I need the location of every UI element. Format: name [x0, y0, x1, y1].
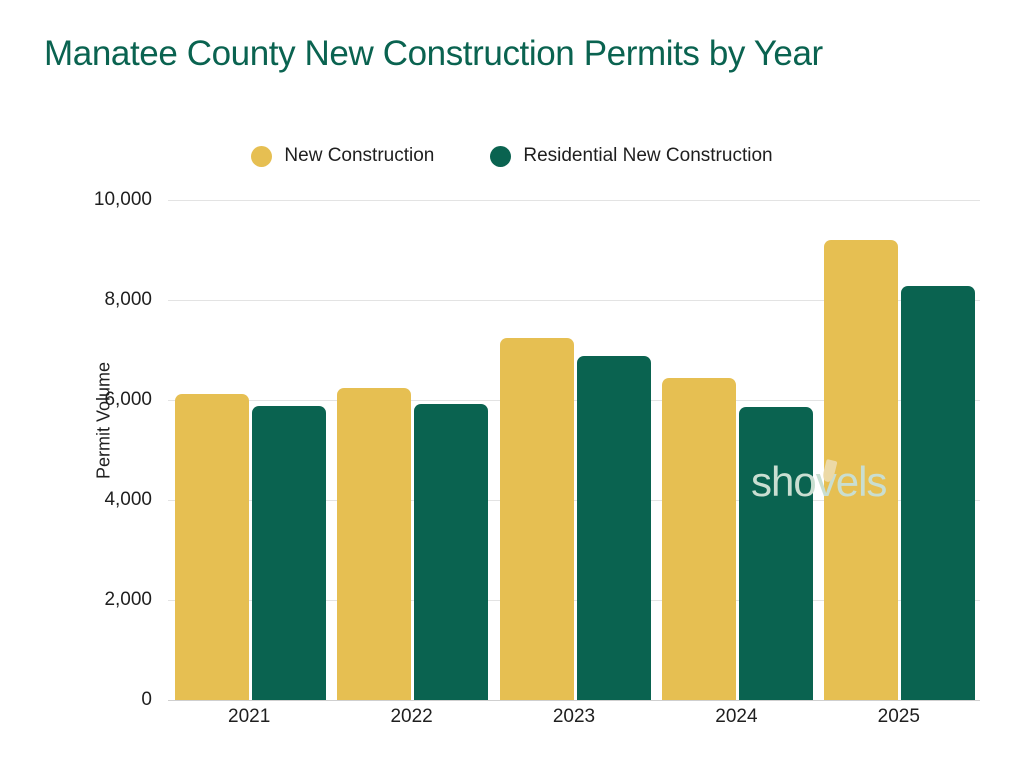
- y-tick-label: 4,000: [104, 489, 152, 511]
- bar-2025-series-2[interactable]: [901, 286, 975, 701]
- x-tick-label-2023: 2023: [553, 706, 595, 728]
- bar-2023-series-1[interactable]: [500, 338, 574, 701]
- y-tick-label: 10,000: [94, 189, 152, 211]
- chart-legend: New Construction Residential New Constru…: [0, 145, 1024, 167]
- legend-label-residential-new-construction: Residential New Construction: [523, 145, 772, 167]
- x-tick-label-2021: 2021: [228, 706, 270, 728]
- legend-swatch-gold-icon: [251, 146, 272, 167]
- bar-2024-series-2[interactable]: [739, 407, 813, 701]
- bar-2024-series-1[interactable]: [662, 378, 736, 700]
- gridline-10000: [168, 200, 980, 201]
- legend-item-new-construction[interactable]: New Construction: [251, 145, 434, 167]
- x-axis-tick-labels: 20212022202320242025: [168, 706, 980, 740]
- bar-2021-series-1[interactable]: [175, 394, 249, 700]
- bar-2021-series-2[interactable]: [252, 406, 326, 700]
- page-title: Manatee County New Construction Permits …: [44, 34, 823, 74]
- x-tick-label-2022: 2022: [390, 706, 432, 728]
- y-tick-label: 8,000: [104, 289, 152, 311]
- watermark-text-after: els: [836, 458, 887, 505]
- y-tick-label: 0: [141, 689, 152, 711]
- x-tick-label-2024: 2024: [715, 706, 757, 728]
- bar-2022-series-1[interactable]: [337, 388, 411, 700]
- plot-area: shovels: [168, 200, 980, 700]
- watermark-text-before: sho: [751, 458, 816, 505]
- bar-2022-series-2[interactable]: [414, 404, 488, 701]
- legend-label-new-construction: New Construction: [284, 145, 434, 167]
- y-tick-label: 6,000: [104, 389, 152, 411]
- legend-swatch-green-icon: [490, 146, 511, 167]
- bar-2023-series-2[interactable]: [577, 356, 651, 700]
- shovels-watermark: shovels: [751, 458, 886, 506]
- y-axis-tick-labels: 02,0004,0006,0008,00010,000: [0, 200, 152, 700]
- y-tick-label: 2,000: [104, 589, 152, 611]
- x-tick-label-2025: 2025: [878, 706, 920, 728]
- legend-item-residential-new-construction[interactable]: Residential New Construction: [490, 145, 772, 167]
- gridline-0: [168, 700, 980, 701]
